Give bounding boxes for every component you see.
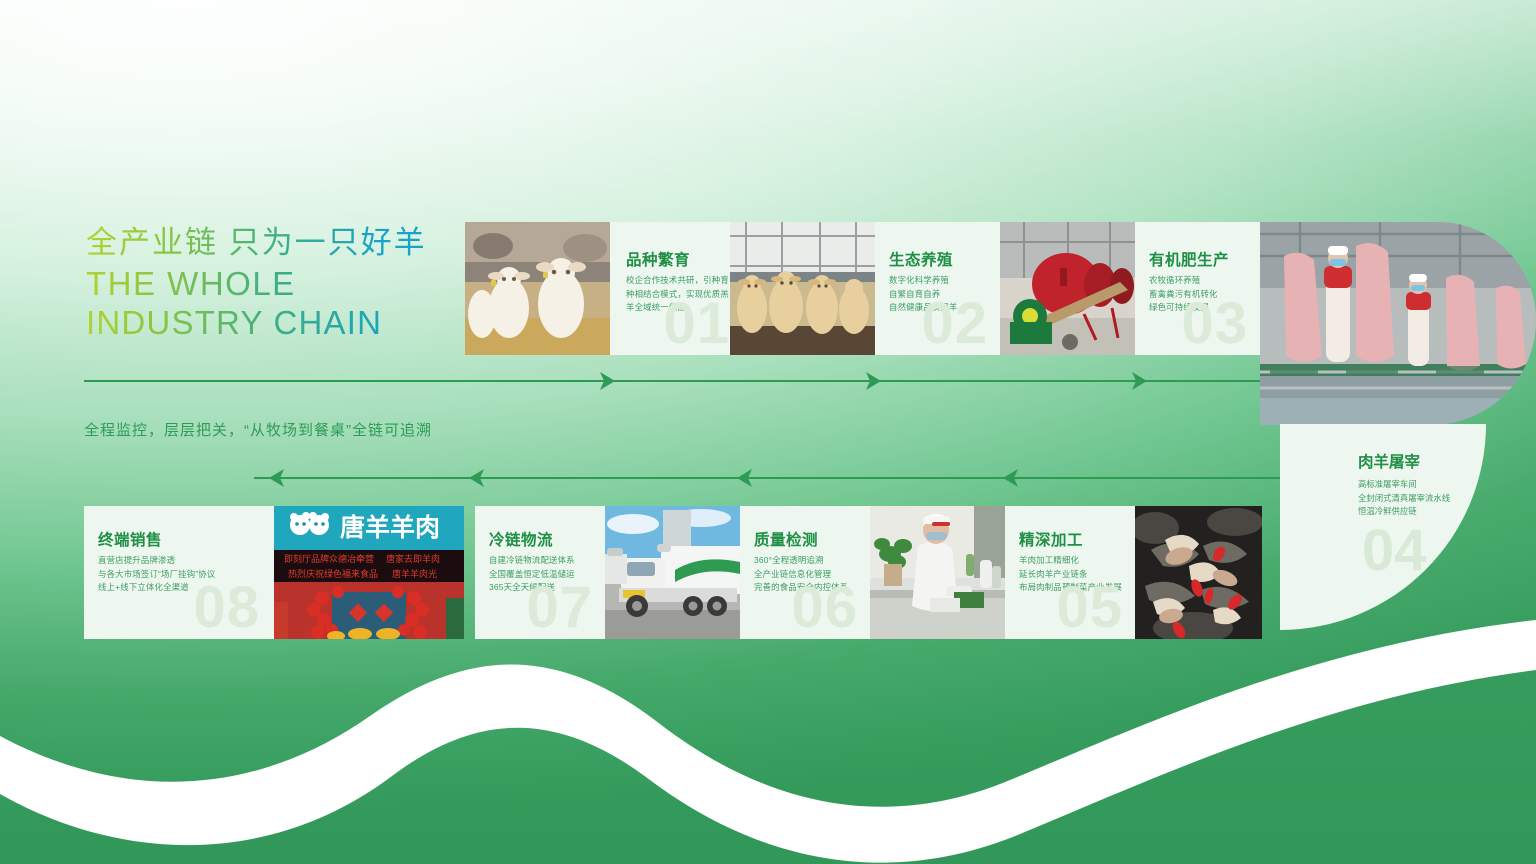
flow-rail-top	[84, 380, 1280, 382]
card-01-number: 01	[663, 295, 730, 353]
subtitle-text: 全程监控，层层把关，“从牧场到餐桌”全链可追溯	[84, 419, 432, 440]
infographic-canvas: 全产业链 只为一只好羊 THE WHOLE INDUSTRY CHAIN 全程监…	[0, 0, 1536, 864]
card-05-title: 精深加工	[1019, 528, 1083, 550]
card-02-number: 02	[921, 295, 988, 353]
card-01[interactable]: 品种繁育 校企合作技术共研，引种育 种相结合模式，实现优质羔 羊全域统一供应 0…	[610, 222, 742, 355]
card-07-line-1: 自建冷链物流配送体系	[489, 554, 575, 568]
card-06[interactable]: 质量检测 360°全程透明追溯 全产业链信息化管理 完善的食品安全内控体系 06	[740, 506, 870, 639]
photo-lambs-in-barn	[465, 222, 610, 355]
card-01-title: 品种繁育	[626, 248, 690, 270]
card-03-line-1: 农牧循环养殖	[1149, 274, 1218, 288]
card-06-title: 质量检测	[754, 528, 818, 550]
card-07-title: 冷链物流	[489, 528, 553, 550]
headline-english-line2: INDUSTRY CHAIN	[86, 303, 427, 342]
svg-text:唐家去即羊肉: 唐家去即羊肉	[386, 553, 440, 564]
storefront-sign-text: 唐羊羊肉	[340, 513, 440, 542]
card-07[interactable]: 冷链物流 自建冷链物流配送体系 全国覆盖恒定低温储运 365天全天候配送 07	[475, 506, 605, 639]
card-04-number: 04	[1362, 522, 1427, 580]
headline-block: 全产业链 只为一只好羊 THE WHOLE INDUSTRY CHAIN	[86, 222, 427, 342]
card-08-title: 终端销售	[98, 528, 162, 550]
headline-chinese: 全产业链 只为一只好羊	[86, 222, 427, 264]
card-06-number: 06	[791, 579, 858, 637]
svg-text:唐羊羊肉光: 唐羊羊肉光	[392, 568, 437, 579]
card-04-line-1: 高标准屠宰车间	[1358, 478, 1450, 492]
flow-rail-bottom	[254, 477, 1280, 479]
card-04-title: 肉羊屠宰	[1358, 450, 1420, 472]
photo-processed-meat	[1135, 506, 1262, 639]
card-04-lines: 高标准屠宰车间 全封闭式清真屠宰流水线 恒温冷鲜供应链	[1358, 478, 1450, 519]
photo-retail-storefront: 唐羊羊肉 即刻厅品牌众德冶牵营 唐家去即羊肉 热烈庆祝绿色福来食品 唐羊羊肉光	[274, 506, 464, 639]
card-05-line-1: 羊肉加工精细化	[1019, 554, 1122, 568]
card-01-line-1: 校企合作技术共研，引种育	[626, 274, 729, 288]
card-05-number: 05	[1056, 579, 1123, 637]
card-03[interactable]: 有机肥生产 农牧循环养殖 畜禽粪污有机转化 绿色可持续发展 03	[1135, 222, 1260, 355]
photo-sheep-pen	[730, 222, 875, 355]
svg-text:即刻厅品牌众德冶牵营: 即刻厅品牌众德冶牵营	[284, 553, 374, 564]
card-02-title: 生态养殖	[889, 248, 953, 270]
card-05[interactable]: 精深加工 羊肉加工精细化 延长肉羊产业链条 布局肉制品预制菜产业发展 05	[1005, 506, 1135, 639]
card-08-number: 08	[193, 579, 260, 637]
card-03-number: 03	[1181, 295, 1248, 353]
card-08-line-1: 直营店提升品牌渗透	[98, 554, 215, 568]
svg-text:热烈庆祝绿色福来食品: 热烈庆祝绿色福来食品	[288, 568, 378, 579]
card-08[interactable]: 终端销售 直营店提升品牌渗透 与各大市场签订“场厂挂钩”协议 线上+线下立体化全…	[84, 506, 274, 639]
card-02[interactable]: 生态养殖 数字化科学养殖 自繁自育自养 自然健康品质好羊 02	[875, 222, 1000, 355]
card-04-line-3: 恒温冷鲜供应链	[1358, 505, 1450, 519]
card-04-line-2: 全封闭式清真屠宰流水线	[1358, 492, 1450, 506]
card-06-line-1: 360°全程透明追溯	[754, 554, 848, 568]
card-07-number: 07	[526, 579, 593, 637]
photo-fertilizer-machinery	[1000, 222, 1135, 355]
headline-english-line1: THE WHOLE	[86, 264, 427, 303]
card-03-title: 有机肥生产	[1149, 248, 1229, 270]
photo-lab-inspection	[870, 506, 1005, 639]
photo-refrigerated-trucks	[605, 506, 740, 639]
photo-slaughter-line	[1260, 222, 1536, 425]
card-02-line-1: 数字化科学养殖	[889, 274, 958, 288]
